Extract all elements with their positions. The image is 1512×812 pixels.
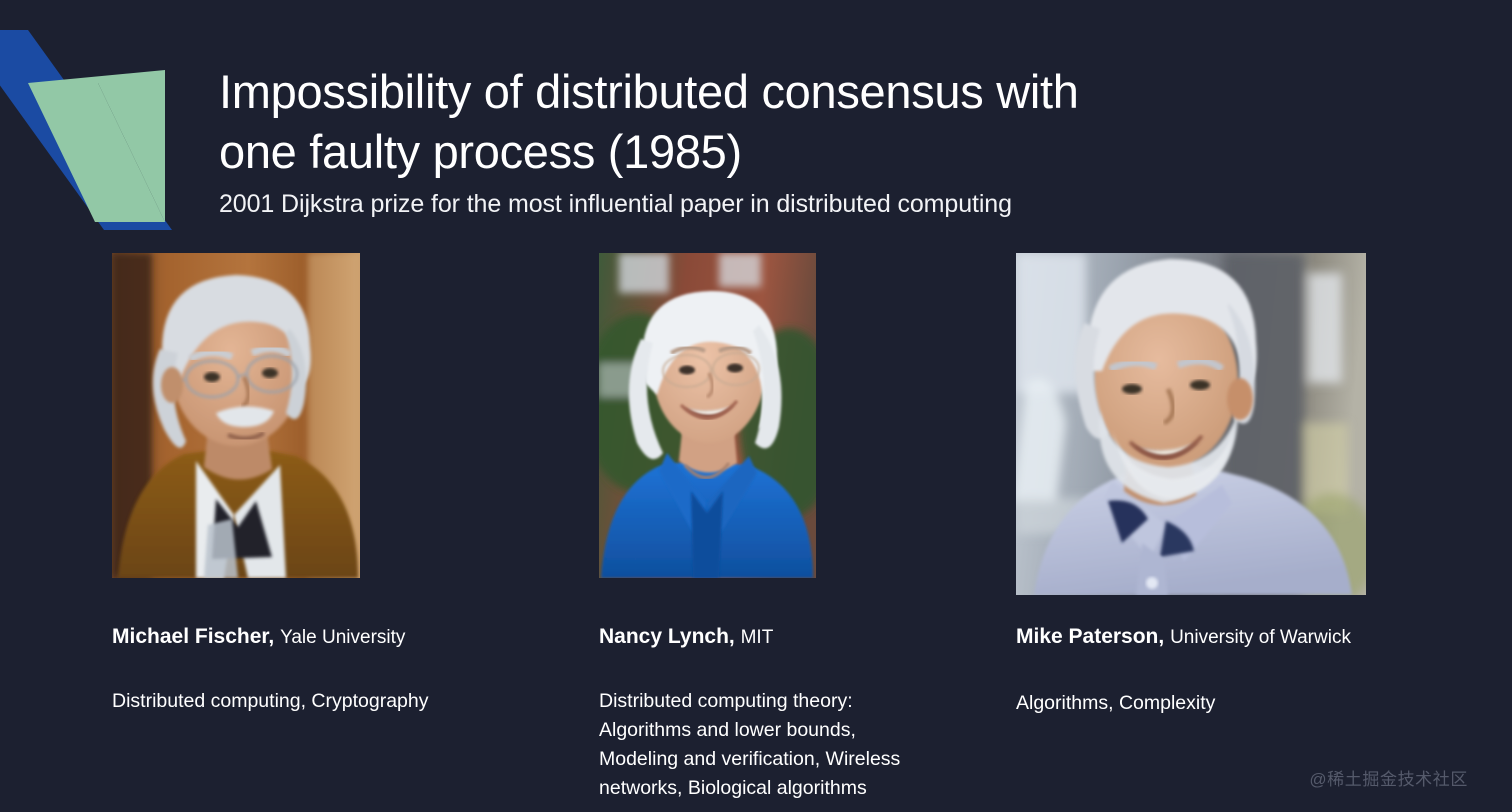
person-description: Distributed computing theory: Algorithms… [599,687,999,803]
decorative-chevron-graphic [0,0,200,240]
slide-header: Impossibility of distributed consensus w… [219,62,1359,219]
person-name: Nancy Lynch, [599,625,735,648]
person-affiliation: University of Warwick [1170,627,1351,648]
watermark-text: @稀土掘金技术社区 [1309,765,1468,790]
person-caption: Michael Fischer, Yale University Distrib… [112,578,532,716]
slide-root: Impossibility of distributed consensus w… [0,0,1512,812]
person-card-nancy-lynch: Nancy Lynch, MIT Distributed computing t… [599,253,999,803]
page-title: Impossibility of distributed consensus w… [219,62,1359,182]
person-card-michael-fischer: Michael Fischer, Yale University Distrib… [112,253,532,716]
person-caption: Nancy Lynch, MIT Distributed computing t… [599,578,999,803]
person-affiliation: Yale University [280,627,405,648]
person-name: Mike Paterson, [1016,625,1164,648]
person-name-line: Nancy Lynch, MIT [599,624,999,651]
person-affiliation: MIT [741,627,774,648]
person-name: Michael Fischer, [112,625,274,648]
page-subtitle: 2001 Dijkstra prize for the most influen… [219,189,1359,219]
person-description: Distributed computing, Cryptography [112,687,532,716]
person-description: Algorithms, Complexity [1016,689,1476,718]
portrait-photo-nancy-lynch [599,253,816,578]
portrait-photo-mike-paterson [1016,253,1366,595]
person-caption: Mike Paterson, University of Warwick Alg… [1016,595,1476,718]
portrait-photo-michael-fischer [112,253,360,578]
person-name-line: Mike Paterson, University of Warwick [1016,624,1476,651]
person-card-mike-paterson: Mike Paterson, University of Warwick Alg… [1016,253,1476,718]
person-name-line: Michael Fischer, Yale University [112,624,532,651]
